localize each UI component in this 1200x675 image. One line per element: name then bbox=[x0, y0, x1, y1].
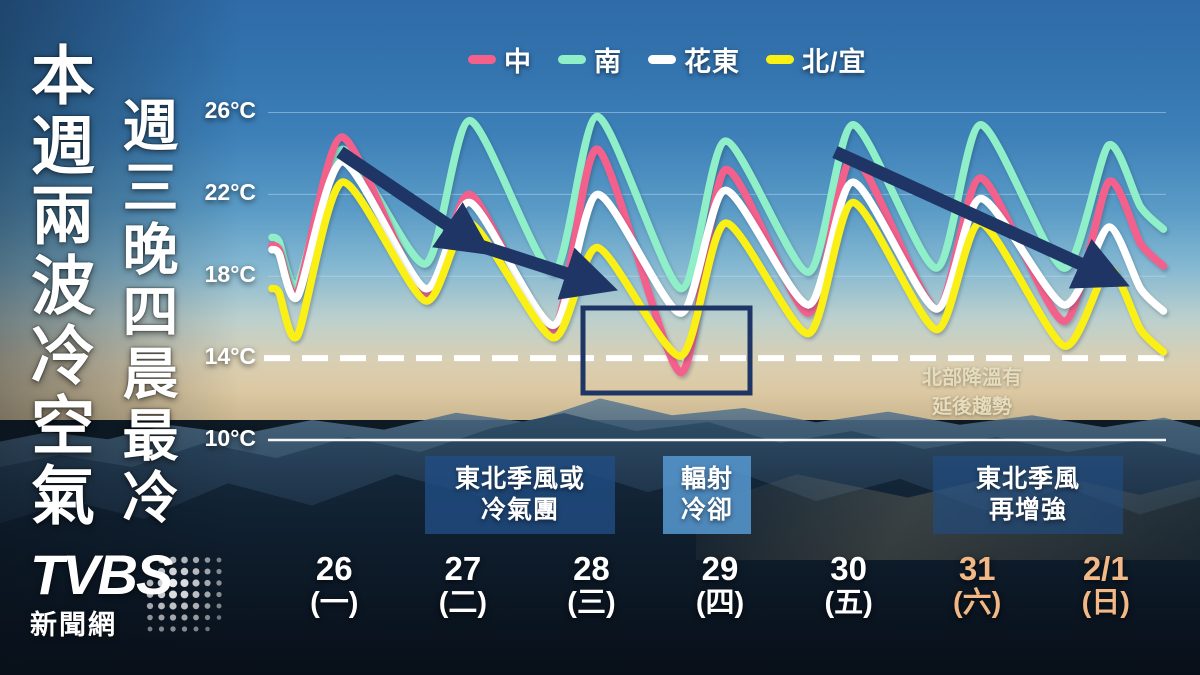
legend-swatch-zhong bbox=[468, 55, 496, 64]
day-of-week: (六) bbox=[913, 587, 1042, 620]
note-north-cooling-delay: 北部降溫有延後趨勢 bbox=[922, 364, 1022, 422]
page-title-main: 本週兩波冷空氣 bbox=[26, 42, 90, 532]
y-axis-tick-10: 10°C bbox=[176, 425, 256, 452]
x-axis-day-30: 30(五) bbox=[784, 552, 913, 620]
day-of-week: (二) bbox=[399, 587, 528, 620]
legend-item-zhong: 中 bbox=[468, 40, 532, 79]
chart-legend: 中 南 花東 北/宜 bbox=[468, 40, 867, 79]
x-axis-day-28: 28(三) bbox=[527, 552, 656, 620]
legend-label-zhong: 中 bbox=[504, 40, 532, 79]
legend-item-nan: 南 bbox=[558, 40, 622, 79]
day-number: 31 bbox=[913, 552, 1042, 587]
day-of-week: (三) bbox=[527, 587, 656, 620]
legend-item-huadong: 花東 bbox=[648, 40, 740, 79]
page-title-sub: 週三晚四晨最冷 bbox=[118, 96, 174, 530]
day-number: 29 bbox=[656, 552, 785, 587]
legend-swatch-nan bbox=[558, 55, 586, 64]
annotation-box-northeast-monsoon: 東北季風或冷氣團 bbox=[425, 456, 615, 534]
day-of-week: (四) bbox=[656, 587, 785, 620]
day-of-week: (一) bbox=[270, 587, 399, 620]
annotation-box-radiative-cooling: 輻射冷卻 bbox=[663, 456, 751, 534]
y-axis-tick-22: 22°C bbox=[176, 179, 256, 206]
x-axis-day-29: 29(四) bbox=[656, 552, 785, 620]
x-axis-day-27: 27(二) bbox=[399, 552, 528, 620]
y-axis-tick-26: 26°C bbox=[176, 97, 256, 124]
legend-item-beiyi: 北/宜 bbox=[766, 40, 867, 79]
x-axis-day-31: 31(六) bbox=[913, 552, 1042, 620]
annotation-box-northeast-monsoon-again: 東北季風再增強 bbox=[933, 456, 1123, 534]
day-number: 26 bbox=[270, 552, 399, 587]
day-of-week: (日) bbox=[1041, 587, 1170, 620]
day-of-week: (五) bbox=[784, 587, 913, 620]
legend-swatch-huadong bbox=[648, 55, 676, 64]
legend-label-nan: 南 bbox=[594, 40, 622, 79]
x-axis-day-26: 26(一) bbox=[270, 552, 399, 620]
day-number: 2/1 bbox=[1041, 552, 1170, 587]
day-number: 30 bbox=[784, 552, 913, 587]
x-axis-day-2-1: 2/1(日) bbox=[1041, 552, 1170, 620]
legend-label-beiyi: 北/宜 bbox=[802, 40, 867, 79]
series-line-zhong bbox=[272, 137, 1163, 372]
tvbs-logo: TVBS 新聞網 bbox=[30, 548, 220, 652]
logo-dot-pattern bbox=[142, 552, 228, 638]
y-axis-tick-18: 18°C bbox=[176, 261, 256, 288]
y-axis-tick-14: 14°C bbox=[176, 343, 256, 370]
day-number: 27 bbox=[399, 552, 528, 587]
legend-label-huadong: 花東 bbox=[684, 40, 740, 79]
legend-swatch-beiyi bbox=[766, 55, 794, 64]
x-axis-date-labels: 26(一)27(二)28(三)29(四)30(五)31(六)2/1(日) bbox=[270, 552, 1170, 620]
day-number: 28 bbox=[527, 552, 656, 587]
